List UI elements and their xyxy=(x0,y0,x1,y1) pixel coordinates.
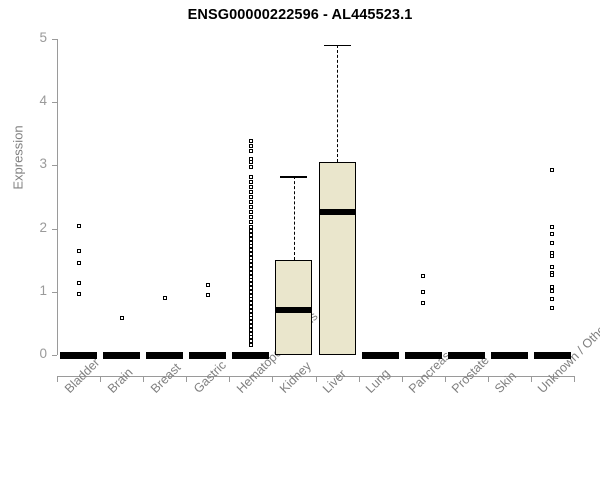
x-tick-label-lung: Lung xyxy=(363,366,393,396)
x-tick-mark xyxy=(531,376,532,382)
boxplot-chart: ENSG00000222596 - AL445523.1 Expression … xyxy=(0,0,600,500)
box-iqr xyxy=(319,162,356,355)
box-collapsed-bar xyxy=(491,352,528,359)
x-tick-label-skin: Skin xyxy=(492,369,519,396)
y-tick-label: 1 xyxy=(21,284,47,298)
outlier-point xyxy=(249,210,253,214)
y-tick-label: 4 xyxy=(21,94,47,108)
whisker-upper xyxy=(294,176,295,260)
x-tick-mark xyxy=(574,376,575,382)
outlier-point xyxy=(550,306,554,310)
outlier-point xyxy=(77,292,81,296)
x-tick-label-prostate: Prostate xyxy=(449,353,492,396)
x-tick-mark xyxy=(488,376,489,382)
box-collapsed-bar xyxy=(534,352,571,359)
box-collapsed-bar xyxy=(60,352,97,359)
whisker-upper-cap xyxy=(280,176,307,178)
x-tick-mark xyxy=(359,376,360,382)
outlier-point xyxy=(249,205,253,209)
y-tick-mark xyxy=(52,292,57,293)
outlier-point xyxy=(206,293,210,297)
outlier-point xyxy=(249,175,253,179)
box-collapsed-bar xyxy=(362,352,399,359)
y-tick-label: 5 xyxy=(21,31,47,45)
x-tick-mark xyxy=(445,376,446,382)
outlier-point xyxy=(421,301,425,305)
outlier-point xyxy=(249,185,253,189)
y-tick-mark xyxy=(52,229,57,230)
x-tick-mark xyxy=(57,376,58,382)
y-tick-label: 0 xyxy=(21,347,47,361)
outlier-point xyxy=(550,225,554,229)
y-tick-label: 3 xyxy=(21,157,47,171)
outlier-point xyxy=(249,180,253,184)
outlier-point xyxy=(249,149,253,153)
outlier-point xyxy=(206,283,210,287)
x-tick-mark xyxy=(186,376,187,382)
chart-title: ENSG00000222596 - AL445523.1 xyxy=(0,7,600,23)
outlier-point xyxy=(550,241,554,245)
median-line xyxy=(275,307,312,313)
box-collapsed-bar xyxy=(146,352,183,359)
outlier-point xyxy=(421,274,425,278)
outlier-point xyxy=(550,168,554,172)
outlier-point xyxy=(550,297,554,301)
outlier-point xyxy=(249,144,253,148)
y-tick-mark xyxy=(52,355,57,356)
outlier-point xyxy=(550,232,554,236)
outlier-point xyxy=(249,139,253,143)
whisker-upper-cap xyxy=(324,45,351,47)
x-tick-label-liver: Liver xyxy=(320,367,349,396)
x-tick-label-breast: Breast xyxy=(148,360,183,395)
outlier-point xyxy=(249,343,253,347)
x-tick-mark xyxy=(143,376,144,382)
x-tick-mark xyxy=(316,376,317,382)
y-axis-line xyxy=(57,39,58,355)
x-tick-mark xyxy=(402,376,403,382)
outlier-point xyxy=(550,273,554,277)
outlier-point xyxy=(77,261,81,265)
outlier-point xyxy=(120,316,124,320)
outlier-point xyxy=(550,254,554,258)
x-tick-mark xyxy=(100,376,101,382)
y-tick-mark xyxy=(52,39,57,40)
y-tick-mark xyxy=(52,102,57,103)
y-tick-label: 2 xyxy=(21,221,47,235)
y-tick-mark xyxy=(52,165,57,166)
outlier-point xyxy=(249,195,253,199)
outlier-point xyxy=(550,265,554,269)
box-collapsed-bar xyxy=(103,352,140,359)
whisker-upper xyxy=(337,45,338,162)
outlier-point xyxy=(550,289,554,293)
outlier-point xyxy=(77,224,81,228)
outlier-point xyxy=(249,200,253,204)
box-collapsed-bar xyxy=(448,352,485,359)
outlier-point xyxy=(249,160,253,164)
outlier-point xyxy=(163,296,167,300)
x-tick-mark xyxy=(229,376,230,382)
median-line xyxy=(319,209,356,215)
x-tick-label-kidney: Kidney xyxy=(277,359,314,396)
box-collapsed-bar xyxy=(405,352,442,359)
box-collapsed-bar xyxy=(189,352,226,359)
box-collapsed-bar xyxy=(232,352,269,359)
outlier-point xyxy=(77,281,81,285)
outlier-point xyxy=(77,249,81,253)
outlier-point xyxy=(249,220,253,224)
outlier-point xyxy=(249,190,253,194)
outlier-point xyxy=(249,165,253,169)
x-tick-mark xyxy=(272,376,273,382)
outlier-point xyxy=(421,290,425,294)
outlier-point xyxy=(249,215,253,219)
x-tick-label-brain: Brain xyxy=(105,365,136,396)
